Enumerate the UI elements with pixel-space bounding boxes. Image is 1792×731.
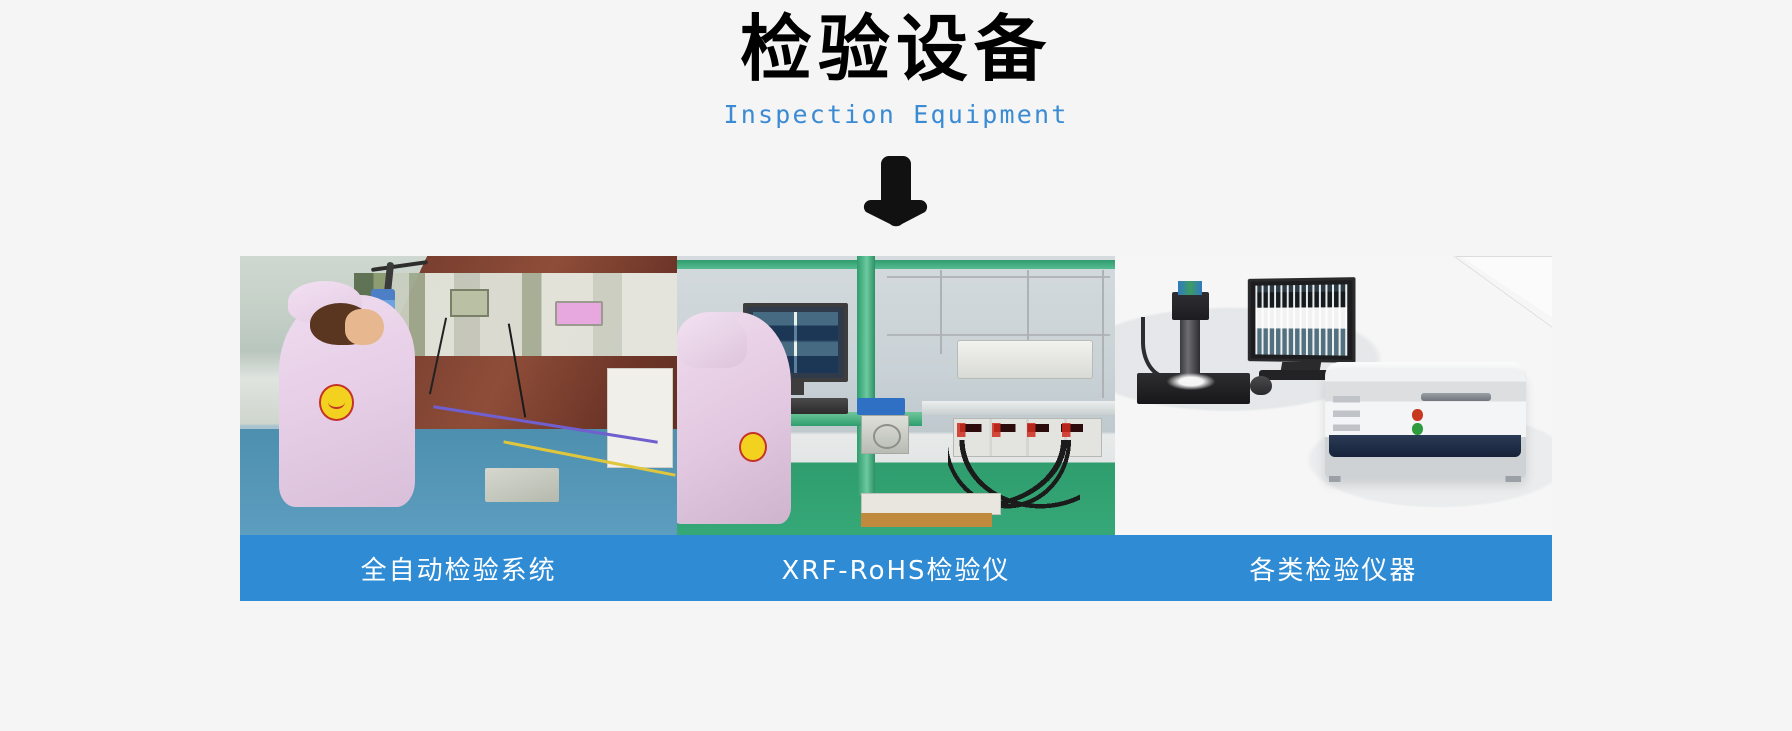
card-photo-xrf-rohs-analyzer	[677, 256, 1114, 535]
microscope-camera-head	[1172, 292, 1209, 320]
oscilloscope-unit	[450, 289, 489, 317]
instrument-display	[555, 301, 603, 326]
operator-face	[345, 309, 384, 345]
page-title: 检验设备	[0, 8, 1792, 90]
pcb-under-test	[485, 468, 559, 501]
spectrometer-feet	[1329, 476, 1521, 482]
equipment-card-various-inspection-instruments[interactable]: 各类检验仪器	[1115, 256, 1552, 601]
spectrometer-drawer-handle	[1421, 393, 1491, 401]
status-led-red	[1412, 409, 1422, 420]
card-caption-auto-inspection-system: 全自动检验系统	[240, 535, 677, 601]
lamp-arm	[371, 260, 428, 272]
card-caption-label: 全自动检验系统	[361, 550, 557, 587]
page-header: 检验设备 Inspection Equipment	[0, 0, 1792, 232]
green-support-column	[857, 256, 875, 496]
status-led-green	[1412, 423, 1422, 434]
card-caption-label: 各类检验仪器	[1249, 550, 1417, 587]
mousepad	[857, 398, 905, 415]
microscope-lcd-monitor	[1248, 277, 1356, 363]
operator-cap	[677, 312, 747, 368]
fixture-base-board	[861, 513, 992, 527]
white-workbench	[922, 401, 1114, 415]
card-caption-label: XRF-RoHS检验仪	[781, 550, 1010, 587]
rack-post-a	[940, 270, 942, 354]
qa-smiley-badge	[739, 432, 767, 463]
down-arrow-icon	[0, 152, 1792, 232]
shelf-rail-lower	[887, 334, 1110, 336]
rack-post-c	[1102, 270, 1104, 398]
ceiling-beam	[677, 260, 1114, 268]
blower-unit	[861, 415, 909, 454]
power-supply-readouts	[957, 423, 1097, 437]
qa-smiley-badge	[319, 384, 354, 420]
equipment-card-xrf-rohs-analyzer[interactable]: XRF-RoHS检验仪	[677, 256, 1114, 601]
shelf-rail-upper	[887, 276, 1110, 278]
corner-diagonal-line	[1452, 256, 1552, 328]
equipment-card-auto-inspection-system[interactable]: 全自动检验系统	[240, 256, 677, 601]
page-subtitle: Inspection Equipment	[0, 100, 1792, 130]
rack-instrument	[957, 340, 1093, 379]
microscope-connectors	[1178, 281, 1202, 295]
card-caption-various-inspection-instruments: 各类检验仪器	[1115, 535, 1552, 601]
mouse	[1250, 376, 1272, 396]
spectrometer-front-band	[1329, 435, 1521, 457]
equipment-card-grid: 全自动检验系统	[240, 256, 1552, 601]
wall-panel	[607, 368, 673, 468]
microscope-stage-light	[1167, 373, 1215, 390]
card-photo-auto-inspection-system	[240, 256, 677, 535]
card-photo-various-inspection-instruments	[1115, 256, 1552, 535]
card-caption-xrf-rohs-analyzer: XRF-RoHS检验仪	[677, 535, 1114, 601]
